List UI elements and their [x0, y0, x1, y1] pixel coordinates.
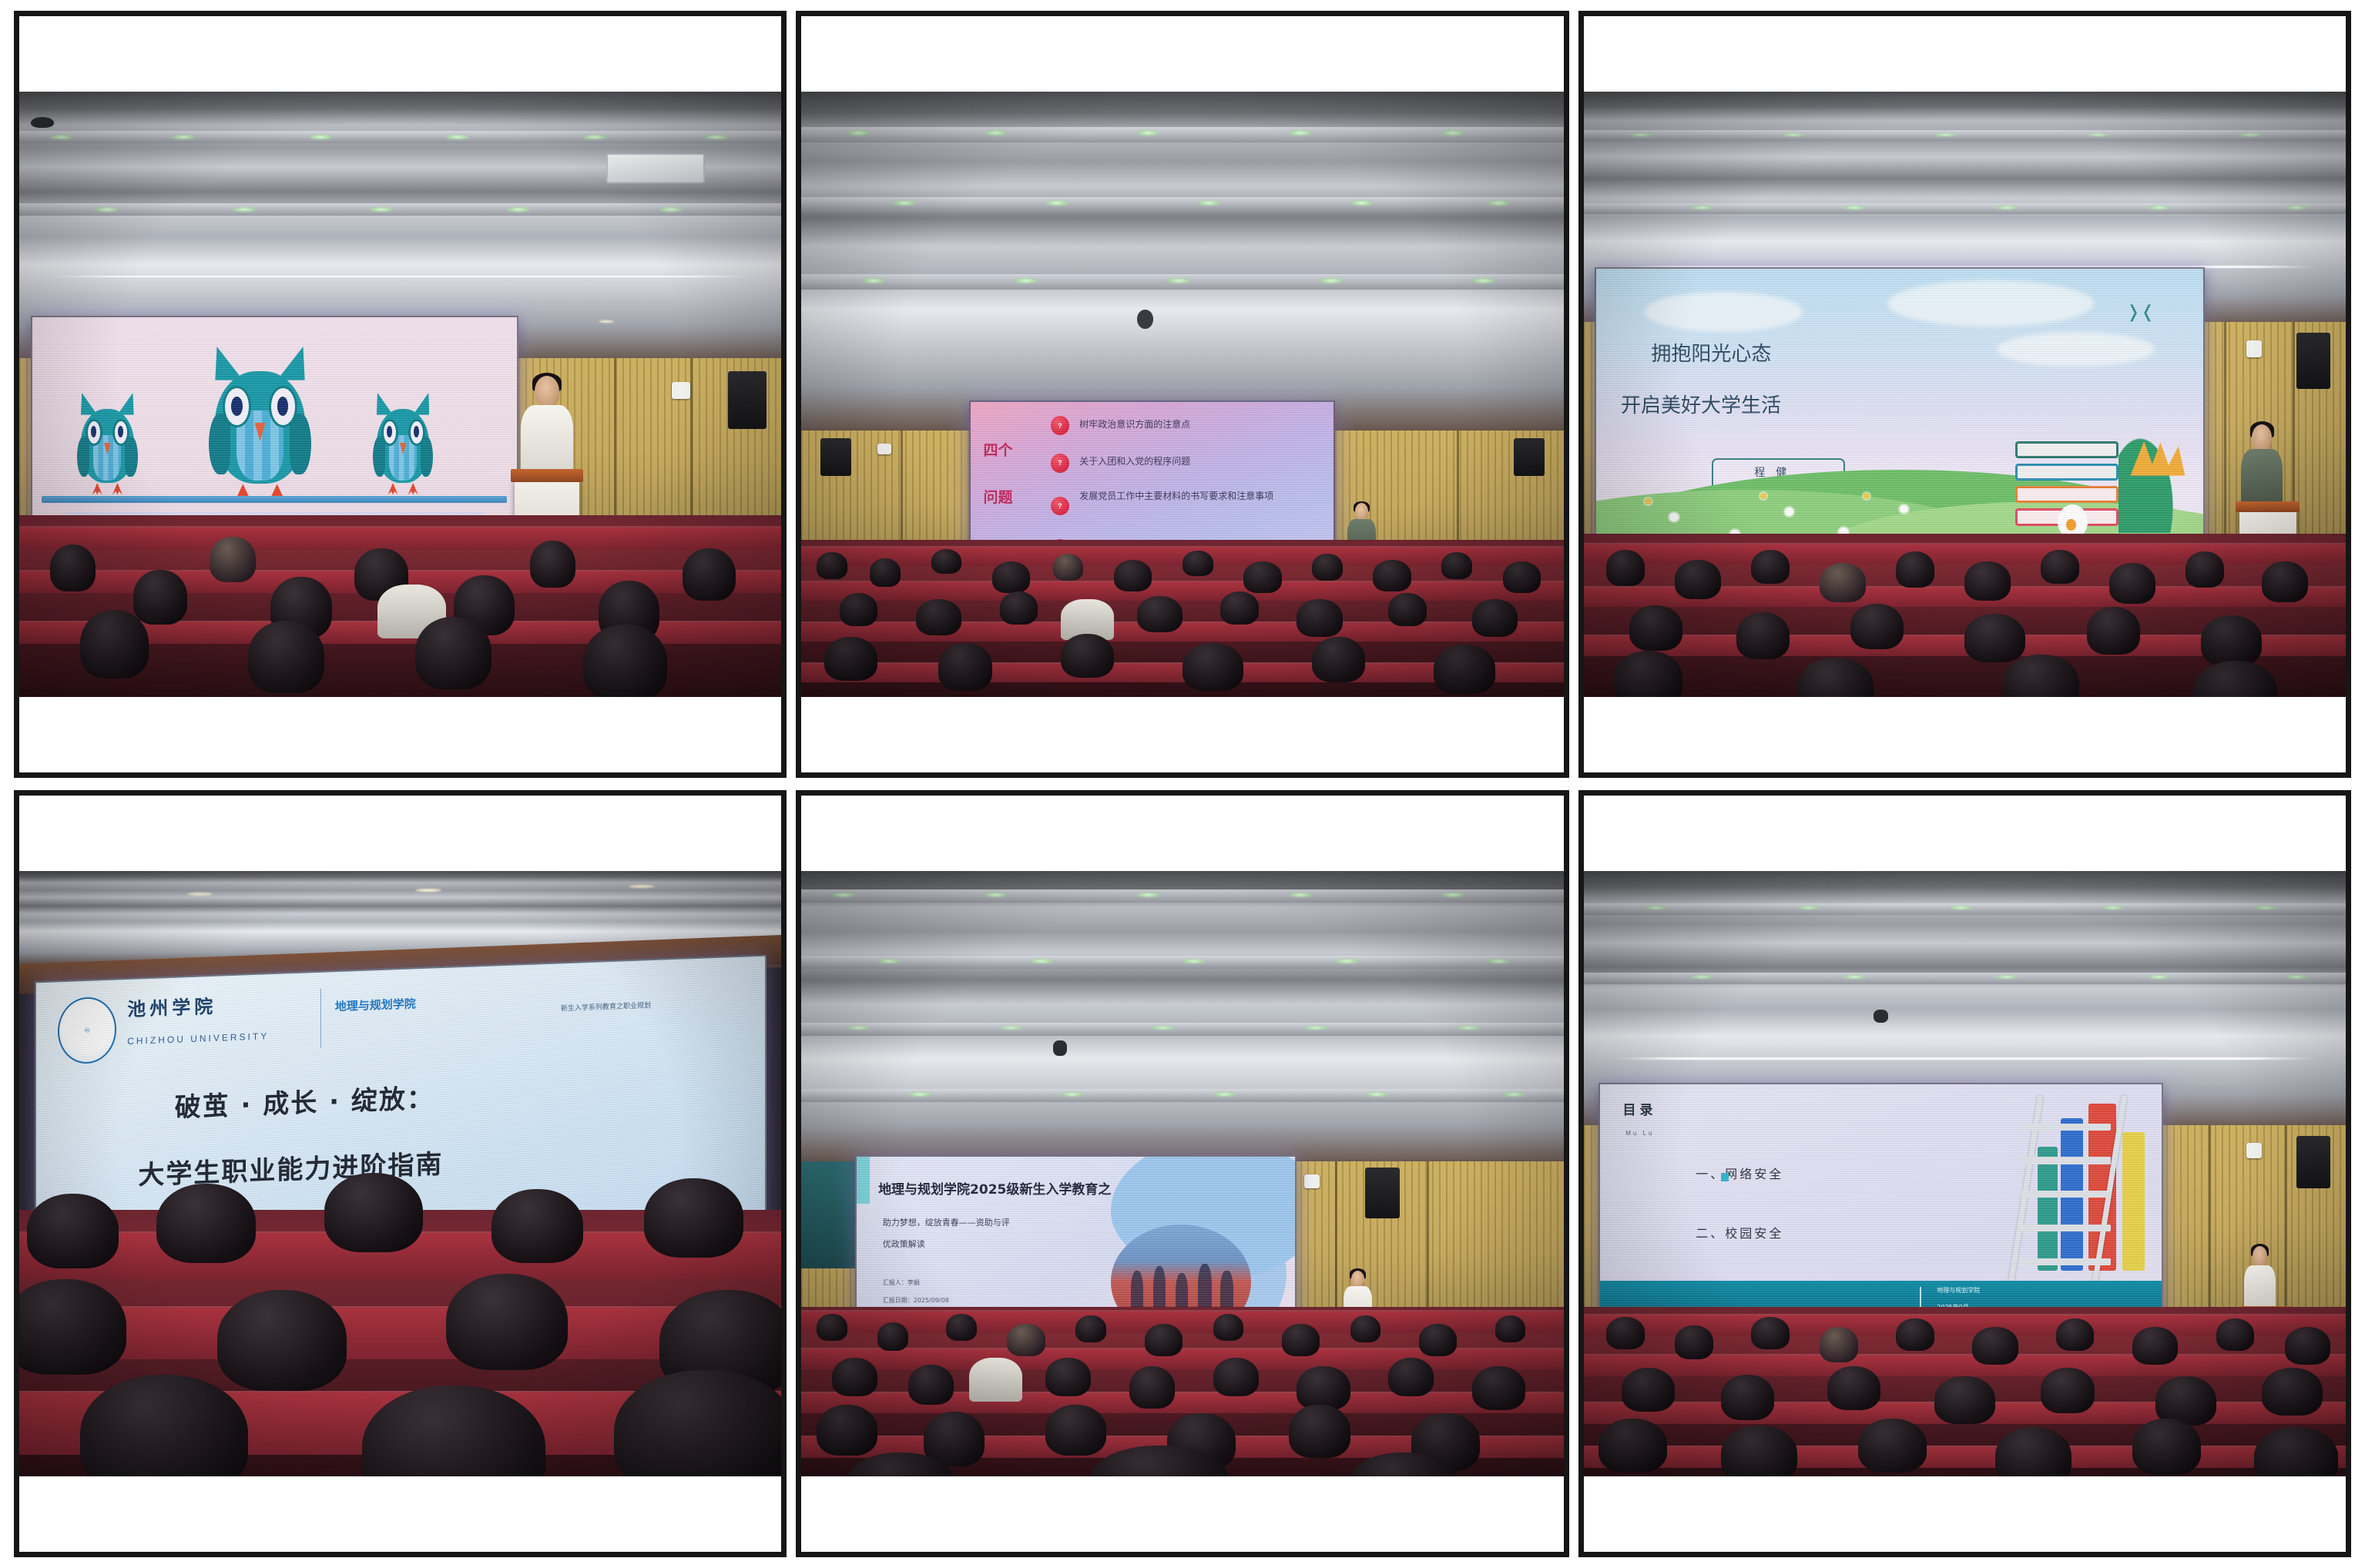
question-badge-icon-2: ? — [1051, 454, 1069, 472]
perch-bar — [42, 496, 507, 503]
bullet-square-icon — [1721, 1173, 1729, 1181]
question-badge-icon-3: ? — [1051, 497, 1069, 515]
swallow-icon: ❭❬ — [2126, 303, 2155, 320]
audience — [1584, 1307, 2346, 1476]
photo-cell-5: 地理与规划学院2025级新生入学教育之 助力梦想，绽放青春——资助与评 优政策解… — [796, 790, 1568, 1557]
slide5-subtitle-line1: 助力梦想，绽放青春——资助与评 — [883, 1216, 1010, 1228]
slide2-heading-line1: 四个 — [983, 439, 1012, 460]
stage-curtain — [801, 1161, 854, 1268]
slide5-reporter: 汇报人：李娟 — [883, 1278, 920, 1287]
ceiling — [801, 871, 1563, 1174]
slide5-title: 地理与规划学院2025级新生入学教育之 — [878, 1178, 1111, 1198]
wall-camera-icon — [877, 444, 891, 454]
owl-small-right — [371, 391, 434, 491]
slide6-footer-line1: 地理与规划学院 — [1937, 1286, 1980, 1295]
photo-cell-1: 地理与规划学院2025级新生入学教育之 ——学籍管理政策解读 姚丽娜 — [14, 11, 787, 778]
wall-speaker-right-icon — [1514, 438, 1545, 475]
slide6-toc-cn: 目录 — [1623, 1099, 1657, 1118]
ac-vent-icon — [606, 153, 706, 184]
hanging-projector-icon — [1053, 1040, 1067, 1056]
slide2-bullet-2: 关于入团和入党的程序问题 — [1079, 454, 1190, 467]
photo-2: 四个 问题 ? 树牢政治意识方面的注意点 ? 关于入团和入党的程序问题 ? 发展… — [801, 92, 1563, 697]
wall-camera-icon — [672, 382, 690, 399]
hanging-projector-icon — [1874, 1010, 1889, 1023]
photo-4: ♾ 池州学院 CHIZHOU UNIVERSITY 地理与规划学院 新生入学系列… — [19, 871, 781, 1476]
owl-large-center — [206, 343, 313, 496]
wall-speaker-icon — [1365, 1168, 1400, 1218]
slide4-logo-cn: 池州学院 — [127, 991, 216, 1021]
hanging-projector-icon — [1137, 310, 1154, 329]
owl-small-left — [75, 391, 139, 491]
slide3-title-line2: 开启美好大学生活 — [1621, 390, 1781, 418]
wall-camera-icon — [1304, 1174, 1320, 1188]
photo-cell-2: 四个 问题 ? 树牢政治意识方面的注意点 ? 关于入团和入党的程序问题 ? 发展… — [796, 11, 1568, 778]
accent-bar — [857, 1157, 870, 1203]
wall-camera-icon — [2246, 340, 2262, 357]
wall-speaker-icon — [2296, 1136, 2331, 1188]
audience — [19, 515, 781, 697]
ladder-icon — [2021, 1094, 2111, 1305]
photo-5: 地理与规划学院2025级新生入学教育之 助力梦想，绽放青春——资助与评 优政策解… — [801, 871, 1563, 1476]
chizhou-university-logo-icon: ♾ — [58, 997, 116, 1064]
wall-camera-icon — [2246, 1143, 2262, 1159]
photo-3: ❭❬ 拥抱阳光心态 开启美好大学生活 程 健 — [1584, 92, 2346, 697]
audience-foreground — [19, 1210, 781, 1476]
wall-speaker-left-icon — [820, 438, 851, 475]
slide4-series: 新生入学系列教育之职业规划 — [561, 1000, 651, 1013]
photo-cell-6: 目录 Mu Lu 一、网络安全 二、校园安全 — [1578, 790, 2351, 1557]
slide3-title-line1: 拥抱阳光心态 — [1651, 338, 1771, 367]
audience — [1584, 534, 2346, 697]
wall-speaker-icon — [2296, 333, 2331, 389]
slide2-bullet-1: 树牢政治意识方面的注意点 — [1079, 417, 1190, 431]
projection-screen: ❭❬ 拥抱阳光心态 开启美好大学生活 程 健 — [1595, 267, 2204, 558]
audience — [801, 540, 1563, 697]
slide6-toc-pinyin: Mu Lu — [1625, 1130, 1654, 1137]
photo-collage: 地理与规划学院2025级新生入学教育之 ——学籍管理政策解读 姚丽娜 — [0, 0, 2365, 1568]
logo-divider — [320, 989, 321, 1048]
slide4-department: 地理与规划学院 — [335, 995, 416, 1014]
slide6-item-1: 一、网络安全 — [1696, 1164, 1783, 1182]
ceiling — [801, 92, 1563, 443]
slide4-logo-en: CHIZHOU UNIVERSITY — [127, 1030, 269, 1047]
question-badge-icon-1: ? — [1051, 416, 1069, 434]
slide6-item-2: 二、校园安全 — [1696, 1223, 1783, 1241]
photo-1: 地理与规划学院2025级新生入学教育之 ——学籍管理政策解读 姚丽娜 — [19, 92, 781, 697]
audience — [801, 1307, 1563, 1476]
photo-cell-3: ❭❬ 拥抱阳光心态 开启美好大学生活 程 健 — [1578, 11, 2351, 778]
photo-6: 目录 Mu Lu 一、网络安全 二、校园安全 — [1584, 871, 2346, 1476]
slide2-bullet-3: 发展党员工作中主要材料的书写要求和注意事项 — [1079, 489, 1304, 503]
slide5-date: 汇报日期：2025/09/08 — [883, 1296, 949, 1305]
photo-cell-4: ♾ 池州学院 CHIZHOU UNIVERSITY 地理与规划学院 新生入学系列… — [14, 790, 787, 1557]
slide4-title-line1: 破茧 · 成长 · 绽放： — [174, 1077, 434, 1124]
projection-screen: 目录 Mu Lu 一、网络安全 二、校园安全 — [1598, 1083, 2162, 1325]
slide5-subtitle-line2: 优政策解读 — [883, 1238, 925, 1250]
ceiling-camera-icon — [31, 117, 54, 128]
slide2-heading-line2: 问题 — [983, 486, 1012, 507]
wall-speaker-icon — [728, 371, 766, 429]
